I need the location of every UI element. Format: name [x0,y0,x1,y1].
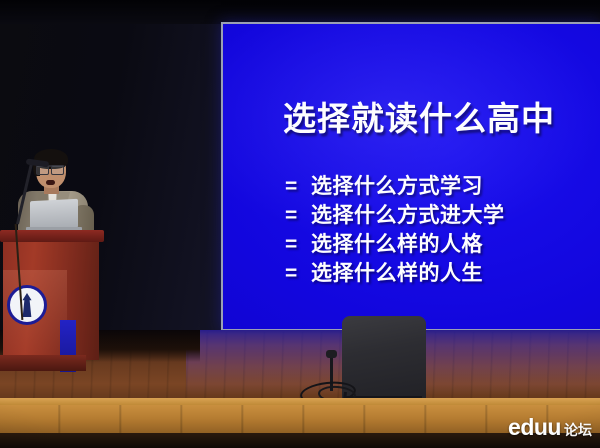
slide-bullet-item: = 选择什么样的人格 [285,230,585,259]
ceiling-shadow [0,0,600,24]
bullet-text: 选择什么方式学习 [311,172,483,201]
slide-bullet-item: = 选择什么方式学习 [285,172,585,201]
bullet-marker-icon: = [285,259,311,288]
screenshot-root: 选择就读什么高中 = 选择什么方式学习 = 选择什么方式进大学 = 选择什么样的… [0,0,600,448]
slide-title: 选择就读什么高中 [240,98,598,140]
slide-bullet-item: = 选择什么方式进大学 [285,201,585,230]
bullet-marker-icon: = [285,230,311,259]
floor-mic-head-icon [326,350,337,358]
presenter-mouth [46,180,55,185]
watermark-suffix: 论坛 [564,420,592,440]
bullet-marker-icon: = [285,172,311,201]
bullet-marker-icon: = [285,201,311,230]
slide-bullet-item: = 选择什么样的人生 [285,259,585,288]
laptop-screen [30,199,78,231]
slide-bullet-list: = 选择什么方式学习 = 选择什么方式进大学 = 选择什么样的人格 = 选择什么… [285,172,585,288]
podium-base [0,355,86,371]
watermark: eduu 论坛 [508,414,592,441]
bullet-text: 选择什么样的人格 [311,230,483,259]
bullet-text: 选择什么方式进大学 [311,201,505,230]
bullet-text: 选择什么样的人生 [311,259,483,288]
glasses-lens-right [51,165,64,175]
watermark-brand: eduu [508,414,561,441]
